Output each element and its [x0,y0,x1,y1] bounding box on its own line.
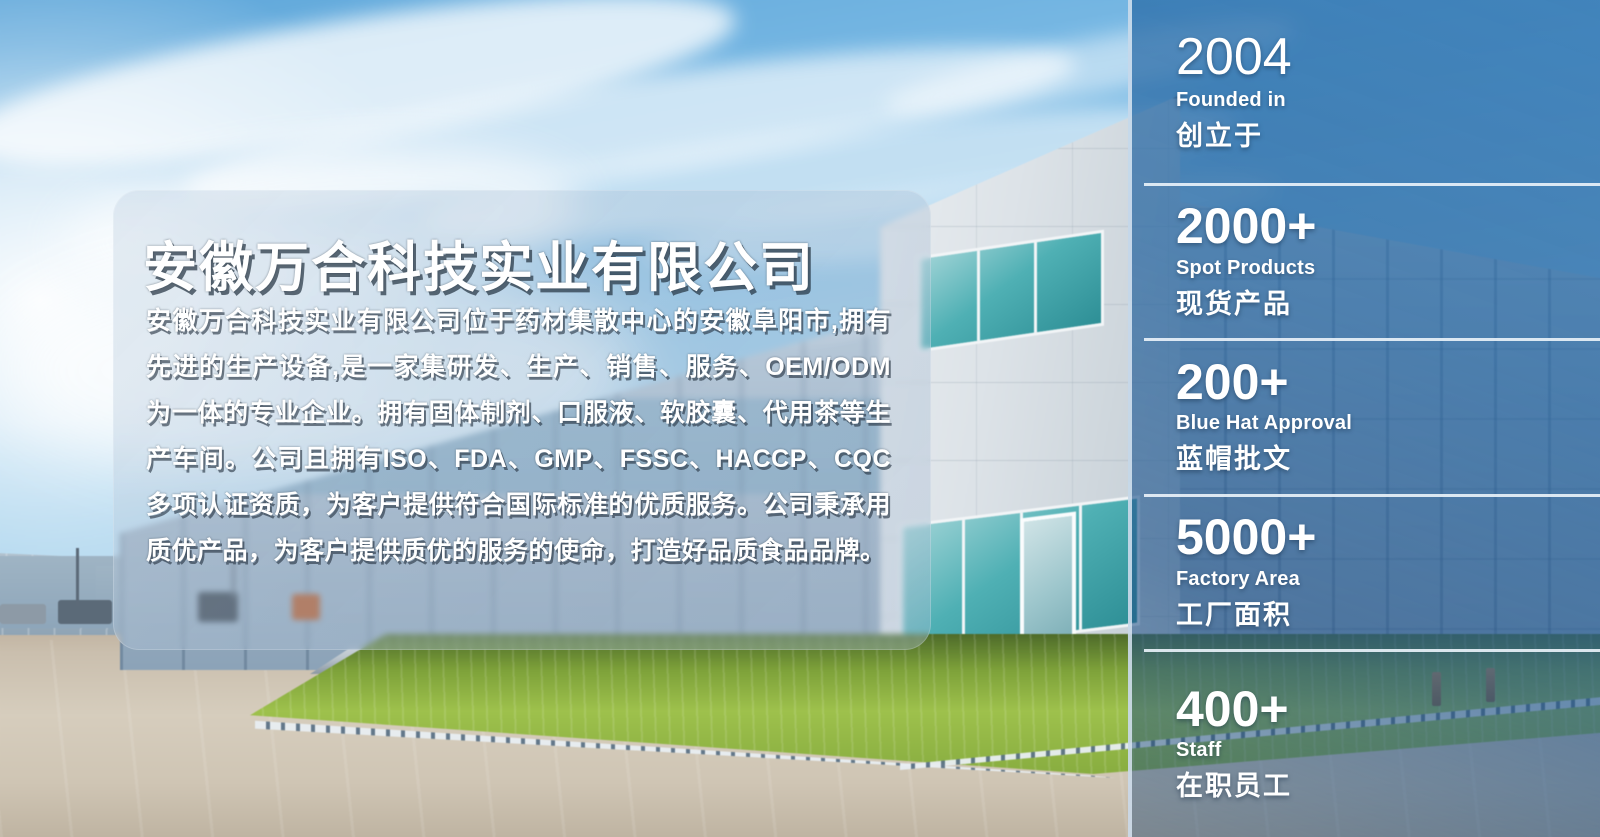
stat-item-blue-hat-approval[interactable]: 200+ Blue Hat Approval 蓝帽批文 [1132,338,1600,494]
stat-label-cn: 工厂面积 [1176,593,1600,632]
stat-number: 2004 [1176,30,1600,85]
company-description-text: 安徽万合科技实业有限公司位于药材集散中心的安徽阜阳市,拥有先进的生产设备,是一家… [146,298,891,574]
stat-number: 400+ [1176,683,1600,736]
statistics-panel: 2004 Founded in 创立于 2000+ Spot Products … [1128,0,1600,837]
stat-label-en: Founded in [1176,89,1600,112]
stat-number: 200+ [1176,356,1600,409]
stat-number: 2000+ [1176,200,1600,253]
stat-item-founded[interactable]: 2004 Founded in 创立于 [1132,0,1600,183]
stat-label-en: Factory Area [1176,568,1600,591]
page-title: 安徽万合科技实业有限公司 [143,223,815,302]
stat-label-en: Spot Products [1176,257,1600,280]
stat-item-staff[interactable]: 400+ Staff 在职员工 [1132,649,1600,837]
stat-label-cn: 创立于 [1176,114,1600,153]
stat-label-en: Staff [1176,739,1600,762]
stat-item-spot-products[interactable]: 2000+ Spot Products 现货产品 [1132,183,1600,338]
stat-number: 5000+ [1176,511,1600,564]
stat-label-cn: 现货产品 [1176,282,1600,321]
office-entrance-door [1020,512,1076,647]
light-pole [76,548,79,606]
parked-vehicle [58,600,112,624]
company-profile-banner: 安徽万合科技实业有限公司 安徽万合科技实业有限公司位于药材集散中心的安徽阜阳市,… [0,0,1600,837]
stat-item-factory-area[interactable]: 5000+ Factory Area 工厂面积 [1132,494,1600,649]
stat-label-cn: 蓝帽批文 [1176,437,1600,476]
stat-label-en: Blue Hat Approval [1176,412,1600,435]
stat-label-cn: 在职员工 [1176,764,1600,803]
parked-vehicle [0,604,46,624]
